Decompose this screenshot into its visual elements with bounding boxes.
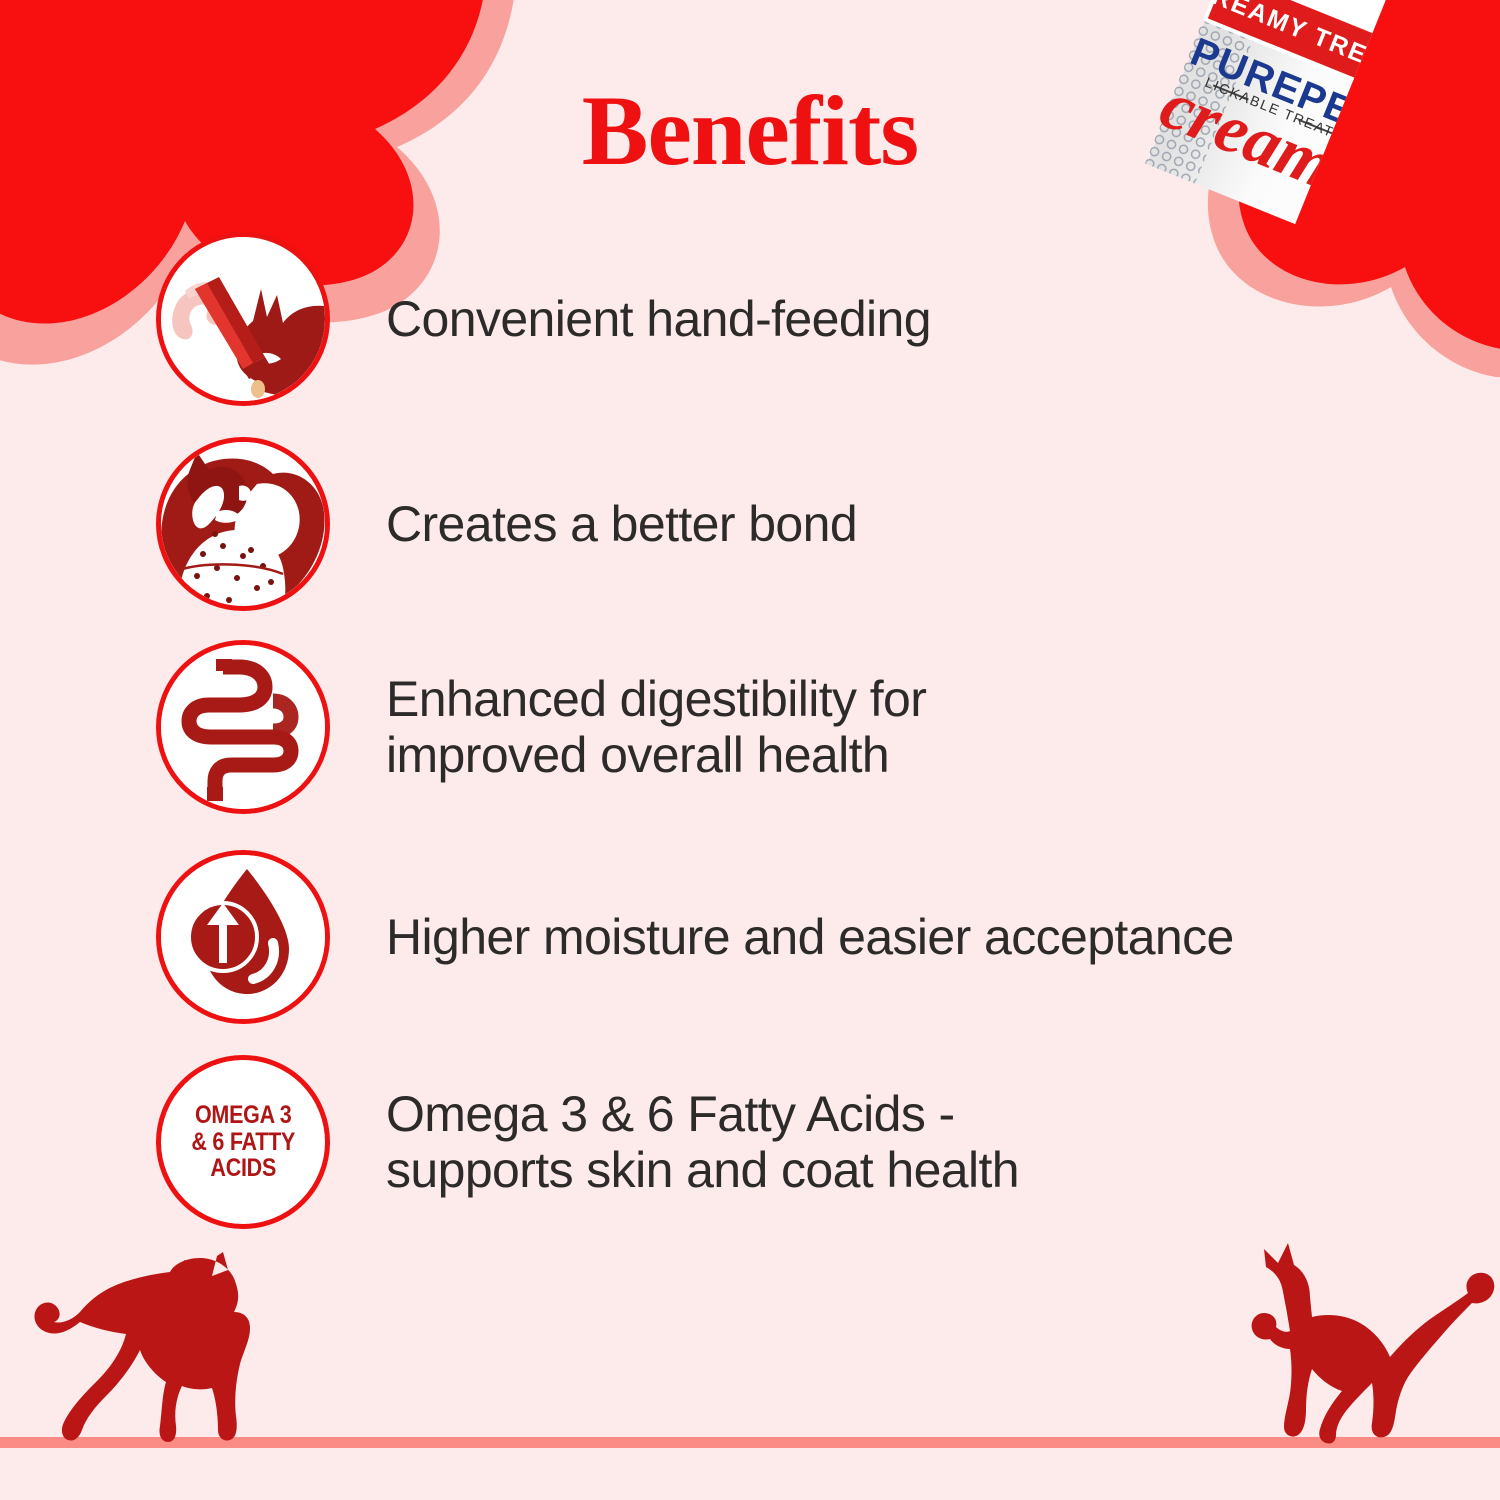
benefit-item: Convenient hand-feeding (156, 232, 931, 406)
baseline-rule (0, 1437, 1500, 1448)
omega-badge-line-3: ACIDS (191, 1155, 295, 1182)
omega-badge-line-1: OMEGA 3 (191, 1102, 295, 1129)
benefit-label: Omega 3 & 6 Fatty Acids - supports skin … (386, 1086, 1019, 1198)
benefit-label: Enhanced digestibility for improved over… (386, 671, 926, 783)
intestine-digestion-icon (156, 640, 330, 814)
svg-text:CRAB: CRAB (1119, 203, 1318, 337)
benefit-label: Higher moisture and easier acceptance (386, 909, 1234, 965)
product-package-image: CREAMY TREATS PUREPET creamy LICKABLE TR… (1030, 0, 1500, 510)
page-title: Benefits (0, 78, 1500, 183)
benefit-item: Creates a better bond (156, 437, 857, 611)
hand-feeding-cat-icon (156, 232, 330, 406)
omega-badge-line-2: & 6 FATTY (191, 1129, 295, 1156)
benefit-label: Creates a better bond (386, 496, 857, 552)
benefit-label: Convenient hand-feeding (386, 291, 931, 347)
corner-blob-top-right (1073, 0, 1500, 377)
walking-cat-silhouette (14, 1240, 314, 1445)
omega-badge-text: OMEGA 3 & 6 FATTY ACIDS (191, 1102, 295, 1182)
woman-hugging-cat-icon (156, 437, 330, 611)
omega-3-6-fatty-acids-badge-icon: OMEGA 3 & 6 FATTY ACIDS (156, 1055, 330, 1229)
water-droplet-up-arrow-icon (156, 850, 330, 1024)
stretching-cat-silhouette (1232, 1235, 1500, 1445)
benefit-item: Enhanced digestibility for improved over… (156, 640, 926, 814)
benefit-item: OMEGA 3 & 6 FATTY ACIDS Omega 3 & 6 Fatt… (156, 1055, 1019, 1229)
benefit-item: Higher moisture and easier acceptance (156, 850, 1234, 1024)
svg-text:CREAMY TREATS: CREAMY TREATS (1190, 0, 1422, 90)
